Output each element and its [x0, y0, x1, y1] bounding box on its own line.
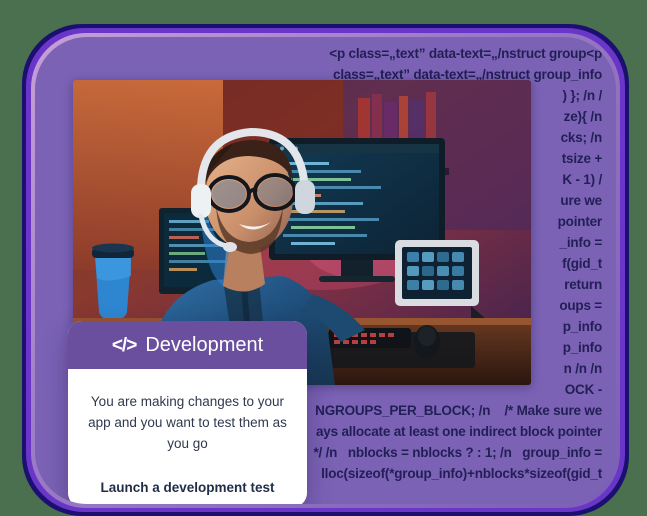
- code-line: <p class=„text” data-text=„/nstruct grou…: [49, 43, 602, 64]
- stage: <p class=„text” data-text=„/nstruct grou…: [0, 0, 647, 480]
- development-card-body: You are making changes to your app and y…: [68, 369, 307, 504]
- development-card-description: You are making changes to your app and y…: [88, 391, 288, 454]
- development-card-title: Development: [145, 335, 263, 355]
- launch-development-test-link[interactable]: Launch a development test: [100, 480, 274, 495]
- development-card-header: </> Development: [68, 321, 307, 369]
- development-card[interactable]: </> Development You are making changes t…: [68, 321, 307, 504]
- code-brackets-icon: </>: [112, 336, 136, 355]
- content-panel: <p class=„text” data-text=„/nstruct grou…: [35, 37, 616, 504]
